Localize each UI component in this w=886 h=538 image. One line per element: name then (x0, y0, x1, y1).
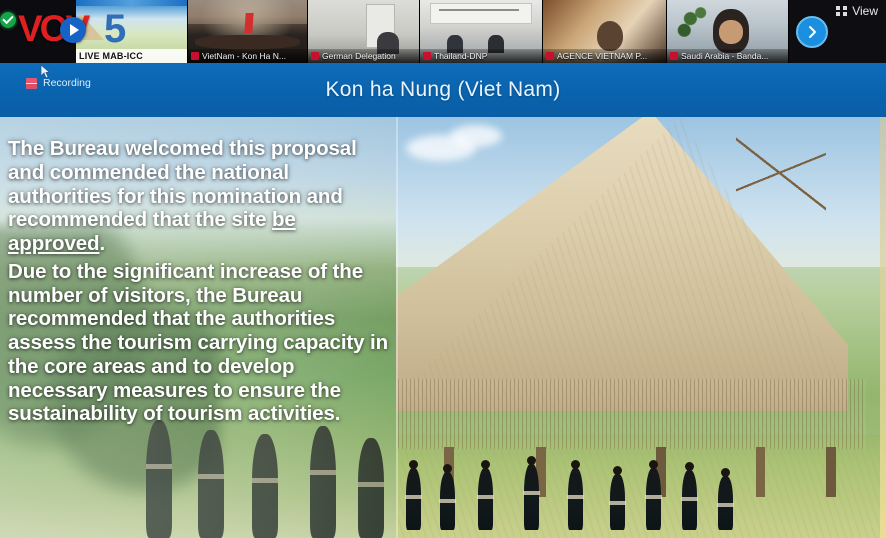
slide-body-text: The Bureau welcomed this proposal and co… (8, 137, 390, 430)
shared-content-titlebar: Recording Kon ha Nung (Viet Nam) (0, 63, 886, 117)
vietnam-flag-icon (244, 13, 253, 33)
video-tile-agence-vietnam[interactable]: AGENCE VIETNAM P... (543, 0, 667, 63)
slide-text-panel: The Bureau welcomed this proposal and co… (0, 117, 396, 538)
video-tile-label: German Delegation (308, 49, 419, 63)
video-tile-label: LIVE MAB-ICC (76, 49, 187, 63)
flag-icon (423, 52, 431, 60)
slide-paragraph-2: Due to the significant increase of the n… (8, 260, 390, 426)
dancer-silhouette (646, 468, 661, 530)
video-tile-thailand-dnp[interactable]: Thailand-DNP (420, 0, 543, 63)
video-tile-name: VietNam - Kon Ha N... (202, 49, 286, 63)
flag-icon (311, 52, 319, 60)
cloud (450, 125, 502, 147)
house-stilts (396, 447, 886, 497)
view-button-label: View (852, 4, 878, 18)
paragraph-1-part-1: The Bureau welcomed this proposal and co… (8, 137, 357, 231)
grid-view-icon (836, 6, 847, 16)
dancer-silhouette (478, 468, 493, 530)
dancer-silhouette (718, 476, 733, 530)
participant-silhouette (597, 21, 623, 51)
view-button[interactable]: View (836, 4, 878, 18)
video-tile-label: Thailand-DNP (420, 49, 542, 63)
paragraph-2-text: Due to the significant increase of the n… (8, 260, 388, 426)
next-page-button[interactable] (796, 16, 828, 48)
dancer-silhouette (682, 470, 697, 530)
participant-filmstrip[interactable]: LIVE MAB-ICC VietNam - Kon Ha N... Germa… (0, 0, 886, 63)
panel-divider (396, 117, 398, 538)
video-tile-mab-icc[interactable]: LIVE MAB-ICC (76, 0, 188, 63)
flag-icon (670, 52, 678, 60)
plant-decoration (674, 3, 715, 42)
video-tile-vietnam[interactable]: VietNam - Kon Ha N... (188, 0, 308, 63)
paragraph-1-part-3: . (99, 232, 105, 255)
branch (736, 131, 826, 211)
conference-table (195, 35, 300, 49)
dancer-silhouette (406, 468, 421, 530)
zoom-webinar-window: LIVE MAB-ICC VietNam - Kon Ha N... Germa… (0, 0, 886, 538)
shared-slide: The Bureau welcomed this proposal and co… (0, 117, 886, 538)
presentation-screen (430, 3, 533, 24)
video-tile-name: LIVE MAB-ICC (79, 49, 143, 63)
dancer-silhouette (440, 472, 455, 530)
flag-icon (191, 52, 199, 60)
dancer-silhouette (610, 474, 625, 530)
rong-house-shape (76, 14, 104, 40)
video-tile-label: Saudi Arabia - Banda... (667, 49, 788, 63)
video-tile-label: AGENCE VIETNAM P... (543, 49, 666, 63)
video-tile-name: Saudi Arabia - Banda... (681, 49, 768, 63)
flag-icon (546, 52, 554, 60)
recording-indicator[interactable]: Recording (26, 77, 91, 89)
slide-right-edge (880, 117, 886, 538)
mab-banner-bar (76, 0, 187, 6)
slide-paragraph-1: The Bureau welcomed this proposal and co… (8, 137, 390, 256)
page-title: Kon ha Nung (Viet Nam) (326, 78, 561, 102)
video-tile-name: AGENCE VIETNAM P... (557, 49, 647, 63)
slide-photo-panel (396, 117, 886, 538)
video-tile-german-delegation[interactable]: German Delegation (308, 0, 420, 63)
participant-silhouette (713, 9, 749, 53)
broadcaster-logo-zone (0, 0, 76, 63)
bamboo-wall (396, 379, 866, 449)
chevron-right-icon (805, 25, 819, 39)
dancer-silhouette (568, 468, 583, 530)
video-tile-saudi-arabia[interactable]: Saudi Arabia - Banda... (667, 0, 789, 63)
dancer-silhouette (524, 464, 539, 530)
mouse-cursor (40, 64, 51, 79)
video-tile-label: VietNam - Kon Ha N... (188, 49, 307, 63)
recording-icon (26, 78, 37, 89)
video-tile-name: German Delegation (322, 49, 396, 63)
video-tile-name: Thailand-DNP (434, 49, 487, 63)
